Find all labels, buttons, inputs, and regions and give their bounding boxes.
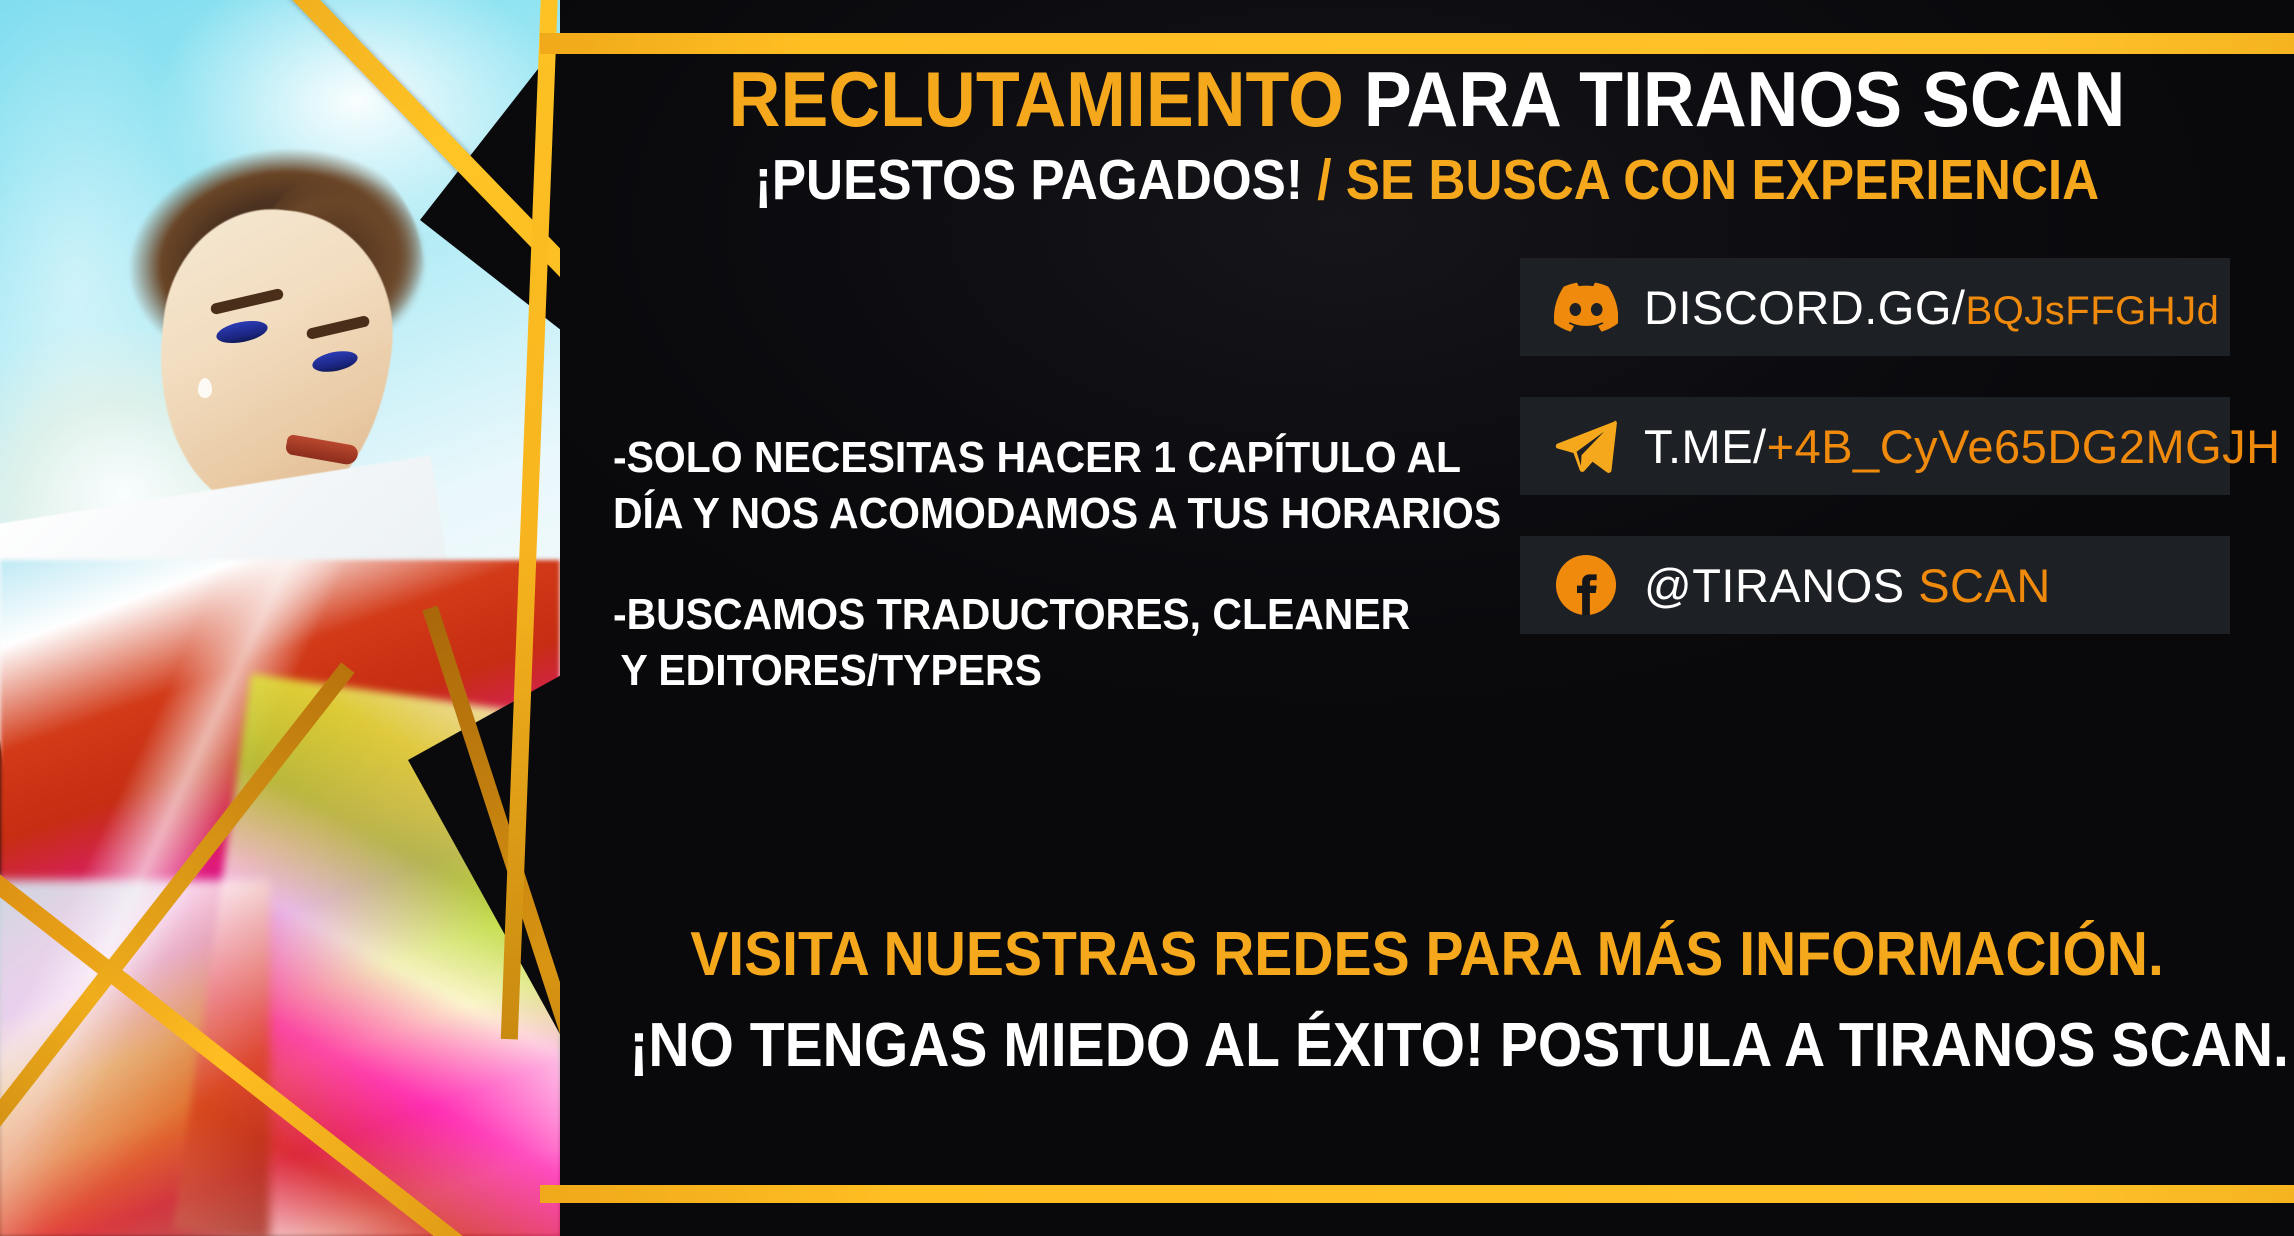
cta-line-visit: VISITA NUESTRAS REDES PARA MÁS INFORMACI… — [629, 920, 2224, 989]
cta-line-apply: ¡NO TENGAS MIEDO AL ÉXITO! POSTULA A TIR… — [629, 1011, 2224, 1080]
content-panel: RECLUTAMIENTO PARA TIRANOS SCAN ¡PUESTOS… — [560, 0, 2294, 1236]
page-subtitle: ¡PUESTOS PAGADOS! / SE BUSCA CON EXPERIE… — [647, 152, 2208, 209]
contact-card-discord-label: DISCORD.GG/BQJsFFGHJd — [1644, 280, 2219, 335]
contact-card-telegram-label: T.ME/+4B_CyVe65DG2MGJH — [1644, 419, 2281, 474]
character-artwork-panel — [0, 0, 560, 1236]
telegram-icon — [1554, 414, 1618, 478]
page-subtitle-paid: ¡PUESTOS PAGADOS! — [755, 148, 1303, 212]
gold-bar-top — [540, 33, 2294, 54]
page-title-rest: PARA TIRANOS SCAN — [1364, 55, 2125, 143]
gold-bar-bottom — [540, 1185, 2294, 1203]
call-to-action: VISITA NUESTRAS REDES PARA MÁS INFORMACI… — [629, 920, 2224, 1081]
artwork-character-sweat-drop — [198, 378, 212, 398]
page-title-highlight: RECLUTAMIENTO — [729, 55, 1344, 143]
telegram-domain-text: T.ME/ — [1644, 420, 1767, 473]
facebook-handle-text: @TIRANOS — [1644, 559, 1918, 612]
contact-card-list: DISCORD.GG/BQJsFFGHJd T.ME/+4B_CyVe65DG2… — [1520, 258, 2260, 634]
telegram-invite-code: +4B_CyVe65DG2MGJH — [1767, 420, 2281, 473]
page-title: RECLUTAMIENTO PARA TIRANOS SCAN — [629, 60, 2224, 138]
requirement-item: -BUSCAMOS TRADUCTORES, CLEANER Y EDITORE… — [613, 587, 1357, 700]
facebook-icon — [1554, 553, 1618, 617]
recruitment-banner: RECLUTAMIENTO PARA TIRANOS SCAN ¡PUESTOS… — [0, 0, 2294, 1236]
contact-card-facebook-label: @TIRANOS SCAN — [1644, 558, 2051, 613]
requirement-line: DÍA Y NOS ACOMODAMOS A TUS HORARIOS — [613, 486, 1357, 542]
requirements-list: -SOLO NECESITAS HACER 1 CAPÍTULO AL DÍA … — [613, 430, 1357, 699]
discord-invite-code: BQJsFFGHJd — [1965, 289, 2219, 333]
page-subtitle-experience: / SE BUSCA CON EXPERIENCIA — [1317, 148, 2099, 212]
requirement-line: Y EDITORES/TYPERS — [613, 643, 1357, 699]
requirement-item: -SOLO NECESITAS HACER 1 CAPÍTULO AL DÍA … — [613, 430, 1357, 543]
requirement-line: -SOLO NECESITAS HACER 1 CAPÍTULO AL — [613, 430, 1357, 486]
contact-card-discord[interactable]: DISCORD.GG/BQJsFFGHJd — [1520, 258, 2230, 356]
requirement-line: -BUSCAMOS TRADUCTORES, CLEANER — [613, 587, 1357, 643]
facebook-handle-highlight: SCAN — [1918, 559, 2051, 612]
discord-icon — [1554, 275, 1618, 339]
contact-card-telegram[interactable]: T.ME/+4B_CyVe65DG2MGJH — [1520, 397, 2230, 495]
contact-card-facebook[interactable]: @TIRANOS SCAN — [1520, 536, 2230, 634]
discord-domain-text: DISCORD.GG/ — [1644, 281, 1965, 334]
